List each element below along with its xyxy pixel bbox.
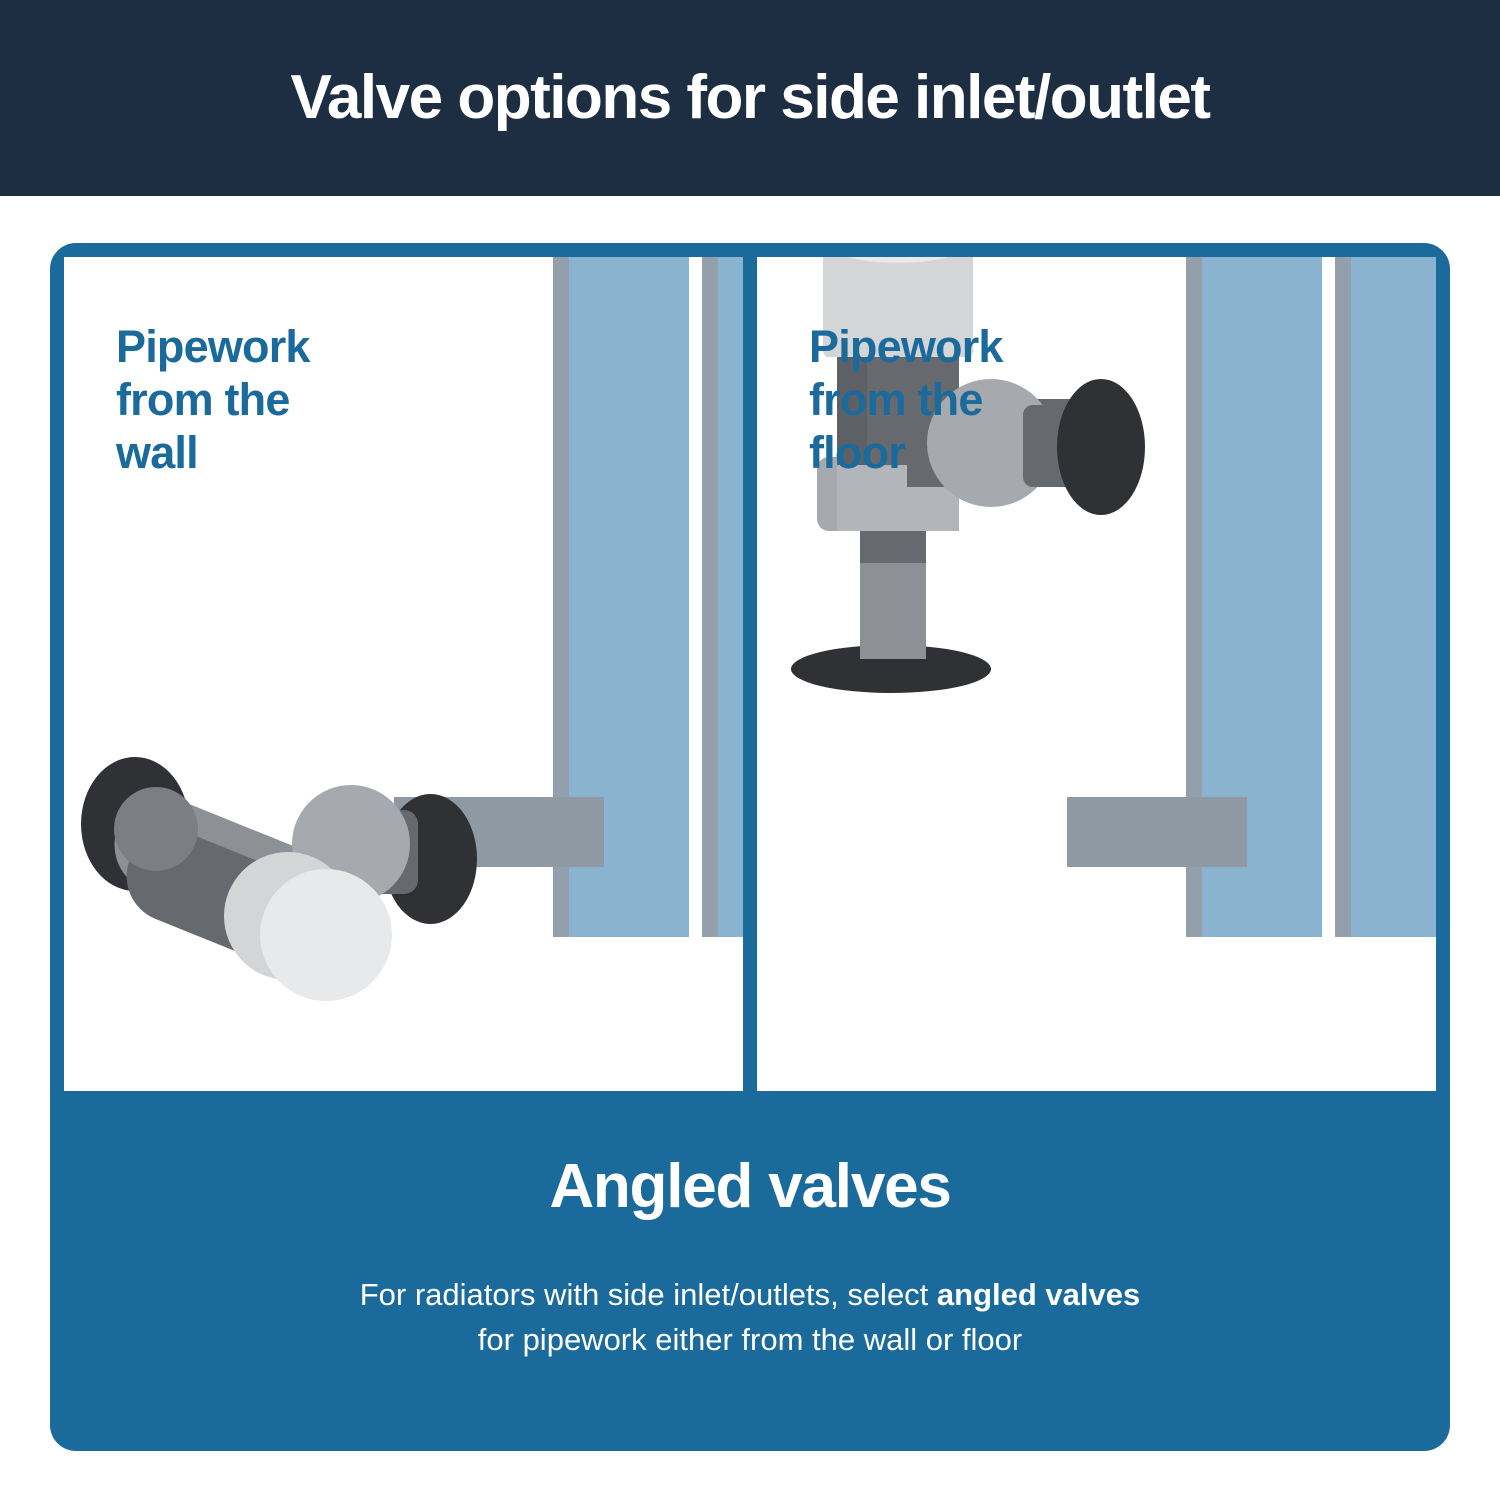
radiator-fin-shadow — [702, 257, 718, 937]
connecting-pipe-horizontal — [1067, 797, 1247, 867]
card-heading: Angled valves — [50, 1156, 1450, 1218]
panels-container: Pipework from the wall — [64, 257, 1436, 1091]
caption-line1-bold: angled valves — [937, 1277, 1140, 1312]
radiator-fin — [718, 257, 743, 937]
panel-pipework-from-wall[interactable]: Pipework from the wall — [64, 257, 743, 1091]
valve-wall-collar — [114, 787, 198, 871]
panel-label-wall: Pipework from the wall — [116, 320, 310, 479]
panel-divider — [743, 257, 757, 1091]
valve-radiator-flange — [1057, 379, 1145, 515]
header-bar: Valve options for side inlet/outlet — [0, 0, 1500, 196]
panel-label-floor: Pipework from the floor — [809, 320, 1003, 479]
panel-pipework-from-floor[interactable]: Pipework from the floor — [757, 257, 1436, 1091]
valve-options-card: Pipework from the wall — [50, 243, 1450, 1451]
caption-line2: for pipework either from the wall or flo… — [478, 1322, 1022, 1357]
page-title: Valve options for side inlet/outlet — [291, 67, 1210, 129]
valve-cap-head — [260, 869, 392, 1001]
radiator-fin-shadow — [1335, 257, 1351, 937]
radiator-fin — [1351, 257, 1436, 937]
caption-line1-prefix: For radiators with side inlet/outlets, s… — [360, 1277, 937, 1312]
card-caption: For radiators with side inlet/outlets, s… — [50, 1273, 1450, 1363]
